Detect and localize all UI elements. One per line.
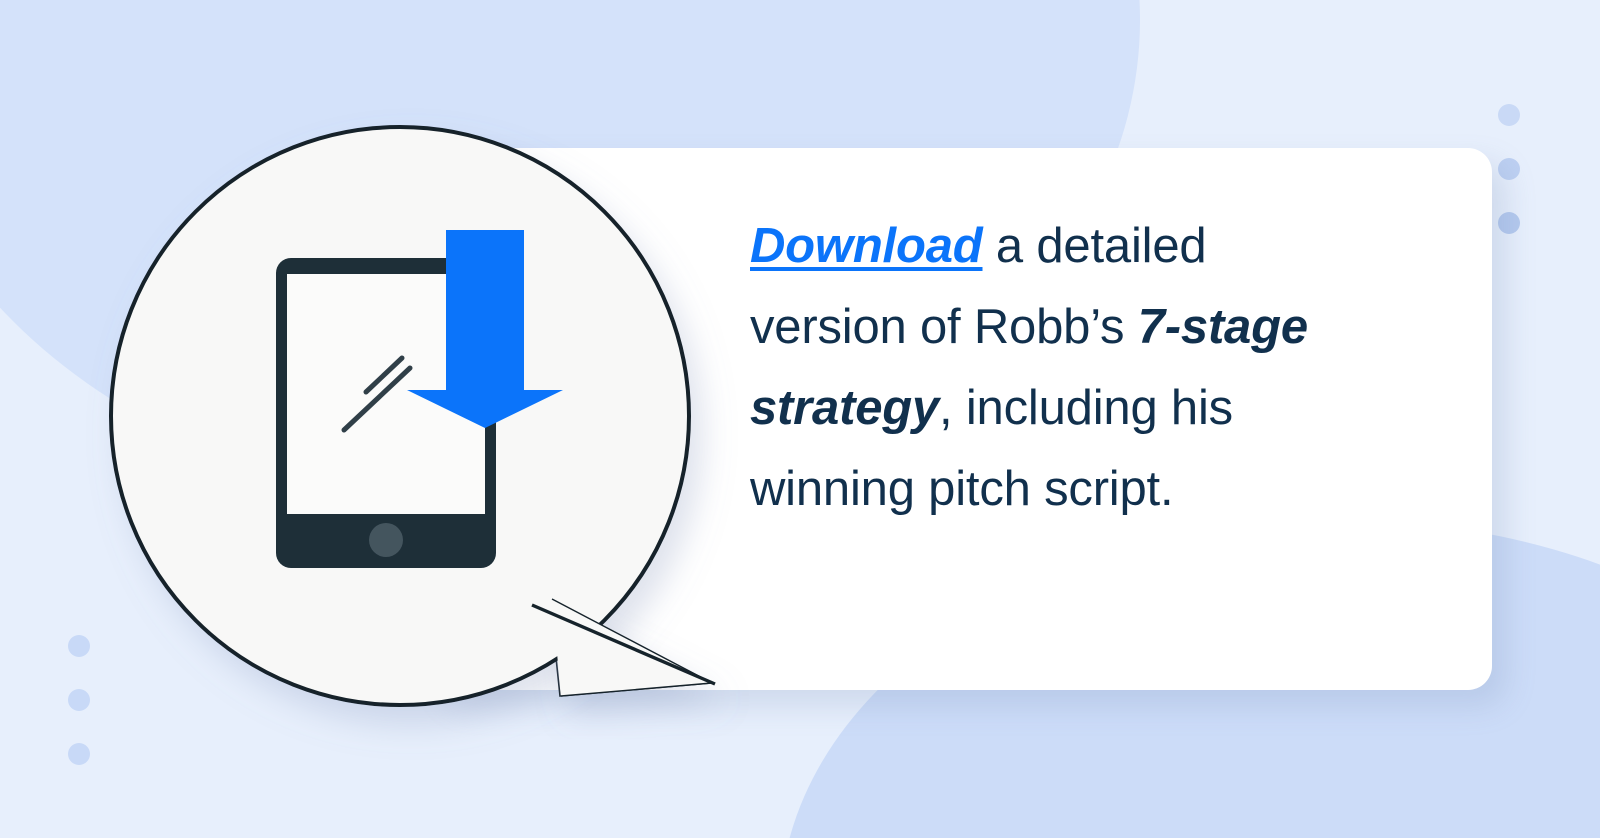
speech-bubble-illustration: [80, 100, 780, 760]
decorative-dot: [1498, 104, 1520, 126]
decorative-dot: [1498, 212, 1520, 234]
home-button-icon: [369, 523, 403, 557]
card-body-text: Download a detailed version of Robb’s 7-…: [750, 206, 1350, 530]
promo-banner: Download a detailed version of Robb’s 7-…: [0, 0, 1600, 838]
decorative-dot: [1498, 158, 1520, 180]
download-link[interactable]: Download: [750, 219, 983, 273]
